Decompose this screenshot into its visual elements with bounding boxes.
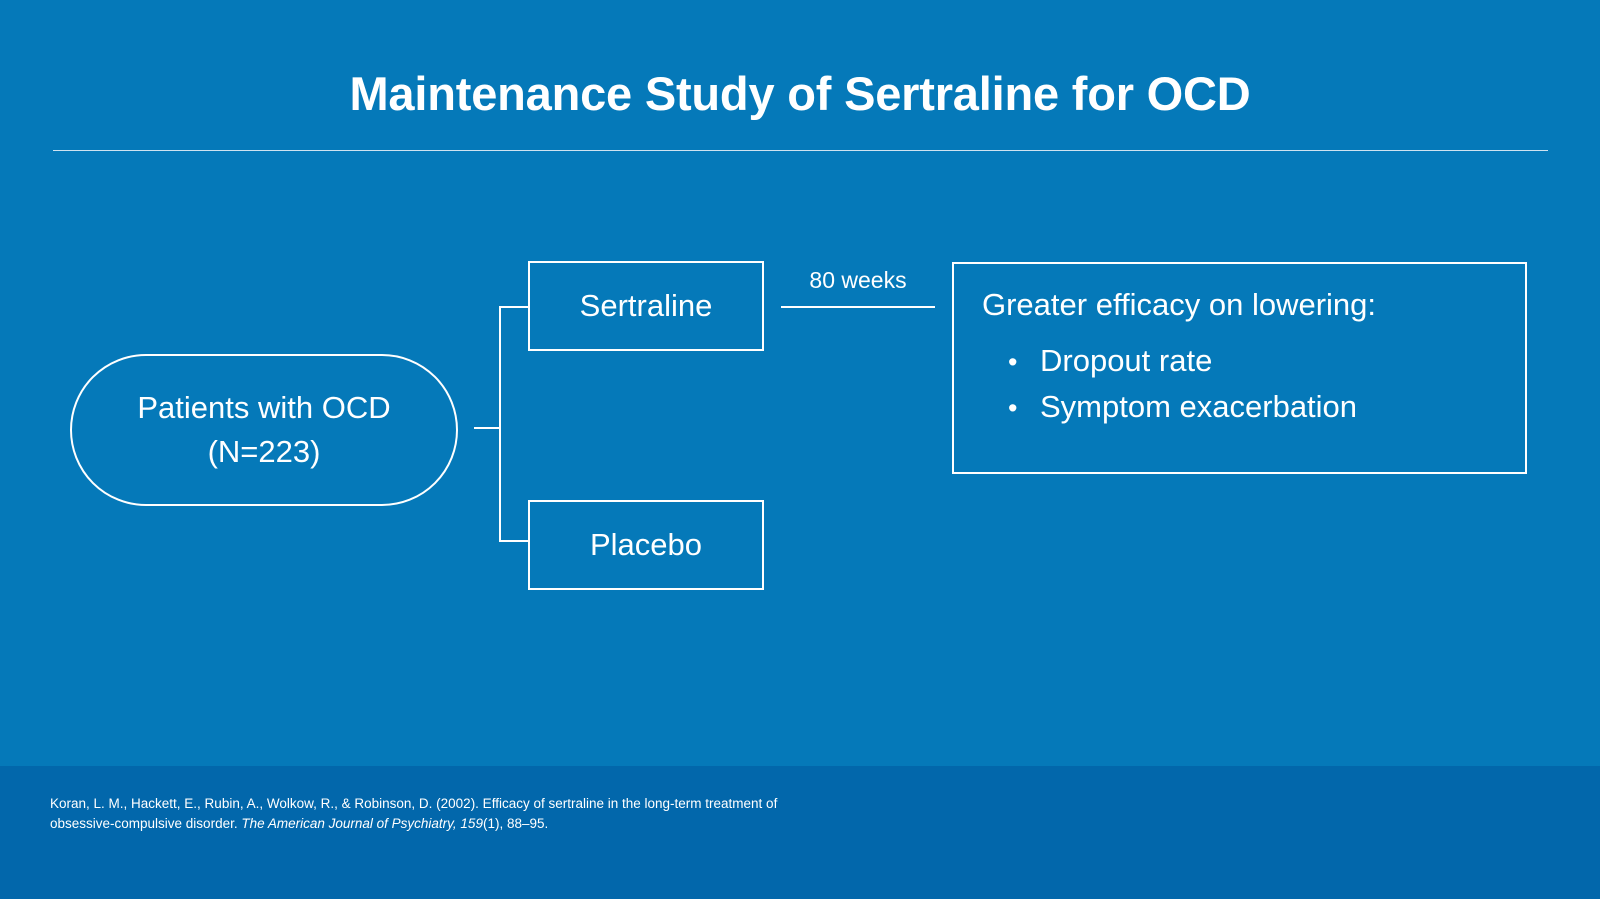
bracket-vertical-line	[499, 306, 501, 542]
arm-label-placebo: Placebo	[590, 526, 702, 563]
results-bullet-label: Dropout rate	[1040, 341, 1212, 381]
results-heading: Greater efficacy on lowering:	[982, 286, 1525, 325]
bracket-top-branch	[499, 306, 529, 308]
results-box: Greater efficacy on lowering: • Dropout …	[952, 262, 1527, 474]
bracket-bottom-branch	[499, 540, 529, 542]
results-bullet-item: • Symptom exacerbation	[982, 387, 1525, 427]
citation-text: Koran, L. M., Hackett, E., Rubin, A., Wo…	[50, 794, 810, 833]
bullet-dot-icon: •	[1008, 345, 1040, 380]
arm-box-sertraline: Sertraline	[528, 261, 764, 351]
footer-band: Koran, L. M., Hackett, E., Rubin, A., Wo…	[0, 766, 1600, 899]
citation-journal: The American Journal of Psychiatry, 159	[241, 816, 483, 831]
population-line-1: Patients with OCD	[137, 386, 390, 430]
population-line-2: (N=223)	[208, 430, 321, 474]
slide-canvas: Maintenance Study of Sertraline for OCD …	[0, 0, 1600, 899]
bullet-dot-icon: •	[1008, 391, 1040, 426]
arm-label-sertraline: Sertraline	[580, 287, 713, 324]
results-bullet-label: Symptom exacerbation	[1040, 387, 1357, 427]
duration-label: 80 weeks	[780, 267, 936, 295]
page-title: Maintenance Study of Sertraline for OCD	[0, 68, 1600, 121]
population-node: Patients with OCD (N=223)	[70, 354, 458, 506]
citation-part-2: (1), 88–95.	[483, 816, 548, 831]
title-divider	[53, 150, 1548, 151]
duration-connector-line	[781, 306, 935, 308]
results-bullet-item: • Dropout rate	[982, 341, 1525, 381]
arm-box-placebo: Placebo	[528, 500, 764, 590]
bracket-stem-connector	[474, 427, 501, 429]
